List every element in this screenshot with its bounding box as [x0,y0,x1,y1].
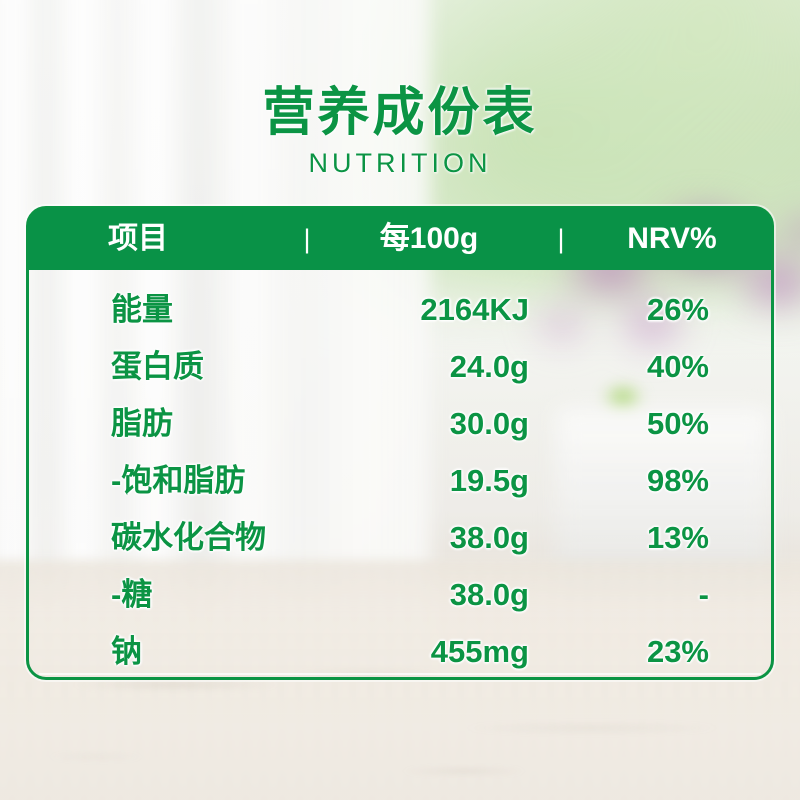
nutrient-amount-per-100g: 455mg [329,636,529,667]
table-base-rule [39,673,761,675]
nutrient-amount-per-100g: 30.0g [329,408,529,439]
nutrient-nrv-percent: 40% [529,351,771,382]
table-row: 蛋白质24.0g40% [29,338,771,395]
nutrient-name: -糖 [29,579,329,610]
nutrient-name: 脂肪 [29,408,329,439]
table-row: 碳水化合物38.0g13% [29,509,771,566]
column-separator-icon-2: | [550,226,572,253]
nutrient-amount-per-100g: 2164KJ [329,294,529,325]
nutrient-amount-per-100g: 38.0g [329,522,529,553]
nutrient-amount-per-100g: 19.5g [329,465,529,496]
nutrient-amount-per-100g: 38.0g [329,579,529,610]
nutrition-table-body: 能量2164KJ26%蛋白质24.0g40%脂肪30.0g50%-饱和脂肪19.… [29,271,771,677]
nutrient-name: 蛋白质 [29,351,329,382]
nutrition-label-page: 营养成份表 NUTRITION 项目 | 每100g | NRV% 能量2164… [0,0,800,800]
nutrient-name: 碳水化合物 [29,522,329,553]
nutrient-nrv-percent: 26% [529,294,771,325]
table-row: -饱和脂肪19.5g98% [29,452,771,509]
table-row: 钠455mg23% [29,623,771,680]
table-row: 脂肪30.0g50% [29,395,771,452]
nutrient-nrv-percent: 13% [529,522,771,553]
nutrient-name: -饱和脂肪 [29,465,329,496]
nutrient-name: 钠 [29,636,329,667]
nutrient-nrv-percent: 50% [529,408,771,439]
nutrient-nrv-percent: 98% [529,465,771,496]
nutrition-table-header-row: 项目 | 每100g | NRV% [28,208,772,270]
nutrition-table: 项目 | 每100g | NRV% 能量2164KJ26%蛋白质24.0g40%… [26,206,774,680]
nutrient-nrv-percent: - [529,579,771,610]
column-header-nrv: NRV% [572,224,772,254]
table-row: 能量2164KJ26% [29,281,771,338]
nutrient-nrv-percent: 23% [529,636,771,667]
nutrient-amount-per-100g: 24.0g [329,351,529,382]
column-header-per-100g: 每100g [318,224,550,254]
column-separator-icon-1: | [296,226,318,253]
nutrient-name: 能量 [29,294,329,325]
table-row: -糖38.0g- [29,566,771,623]
column-header-item: 项目 [28,224,296,254]
